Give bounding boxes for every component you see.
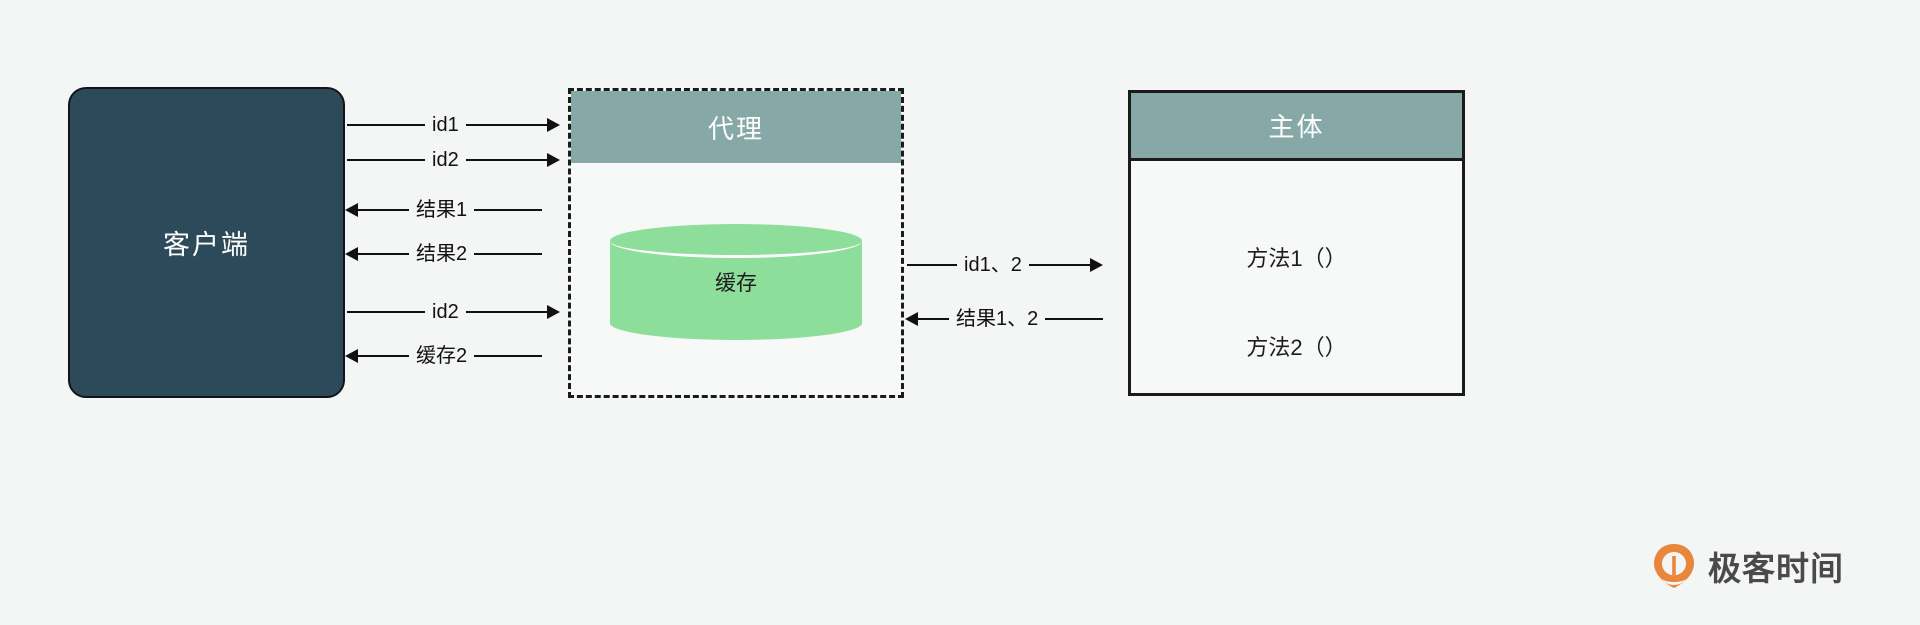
arrow-line-left: [357, 253, 409, 255]
arrow-proxy-subject-2: 结果1、2: [905, 308, 1103, 330]
watermark-logo: 极客时间: [1652, 542, 1844, 590]
subject-method-1: 方法1（）: [1131, 241, 1462, 273]
arrow-label: 结果2: [409, 244, 474, 264]
arrow-line-left: [357, 355, 409, 357]
client-box: 客户端: [68, 87, 345, 398]
arrow-line-right: [474, 253, 542, 255]
cache-label: 缓存: [610, 224, 862, 340]
client-label: 客户端: [163, 223, 250, 262]
arrow-label: id1: [425, 115, 466, 135]
arrow-line-right: [466, 159, 548, 161]
arrow-line-right: [474, 209, 542, 211]
arrow-line-left: [347, 124, 425, 126]
arrow-line-left: [347, 159, 425, 161]
arrow-line-right: [1029, 264, 1091, 266]
arrow-label: 结果1: [409, 200, 474, 220]
arrow-label: 缓存2: [409, 346, 474, 366]
arrow-client-proxy-6: 缓存2: [345, 345, 542, 367]
arrow-line-right: [1045, 318, 1103, 320]
arrow-line-left: [347, 311, 425, 313]
proxy-body: 缓存: [571, 163, 901, 395]
proxy-header-label: 代理: [708, 109, 764, 146]
arrow-proxy-subject-1: id1、2: [907, 254, 1103, 276]
arrow-client-proxy-5: id2: [347, 301, 560, 323]
watermark-text: 极客时间: [1708, 542, 1844, 590]
arrow-label: 结果1、2: [949, 309, 1045, 329]
arrow-line-left: [907, 264, 957, 266]
arrow-label: id2: [425, 302, 466, 322]
subject-header: 主体: [1131, 93, 1462, 161]
arrow-line-left: [357, 209, 409, 211]
arrow-line-right: [466, 311, 548, 313]
diagram-canvas: 客户端 id1 id2 结果1 结果2 id2 缓存2: [0, 0, 1920, 625]
arrowhead-right-icon: [547, 153, 560, 167]
geektime-mark-icon: [1652, 542, 1696, 590]
cache-cylinder: 缓存: [610, 224, 862, 340]
proxy-header: 代理: [571, 91, 901, 163]
arrow-line-left: [917, 318, 949, 320]
arrow-client-proxy-3: 结果1: [345, 199, 542, 221]
arrow-client-proxy-2: id2: [347, 149, 560, 171]
arrow-label: id2: [425, 150, 466, 170]
proxy-box: 代理 缓存: [568, 88, 904, 398]
arrow-label: id1、2: [957, 255, 1029, 275]
arrow-line-right: [474, 355, 542, 357]
arrow-line-right: [466, 124, 548, 126]
subject-header-label: 主体: [1268, 107, 1324, 144]
subject-box: 主体 方法1（） 方法2（）: [1128, 90, 1465, 396]
arrowhead-right-icon: [547, 118, 560, 132]
arrowhead-right-icon: [547, 305, 560, 319]
arrow-client-proxy-1: id1: [347, 114, 560, 136]
arrow-client-proxy-4: 结果2: [345, 243, 542, 265]
subject-method-2: 方法2（）: [1131, 330, 1462, 362]
arrowhead-right-icon: [1090, 258, 1103, 272]
